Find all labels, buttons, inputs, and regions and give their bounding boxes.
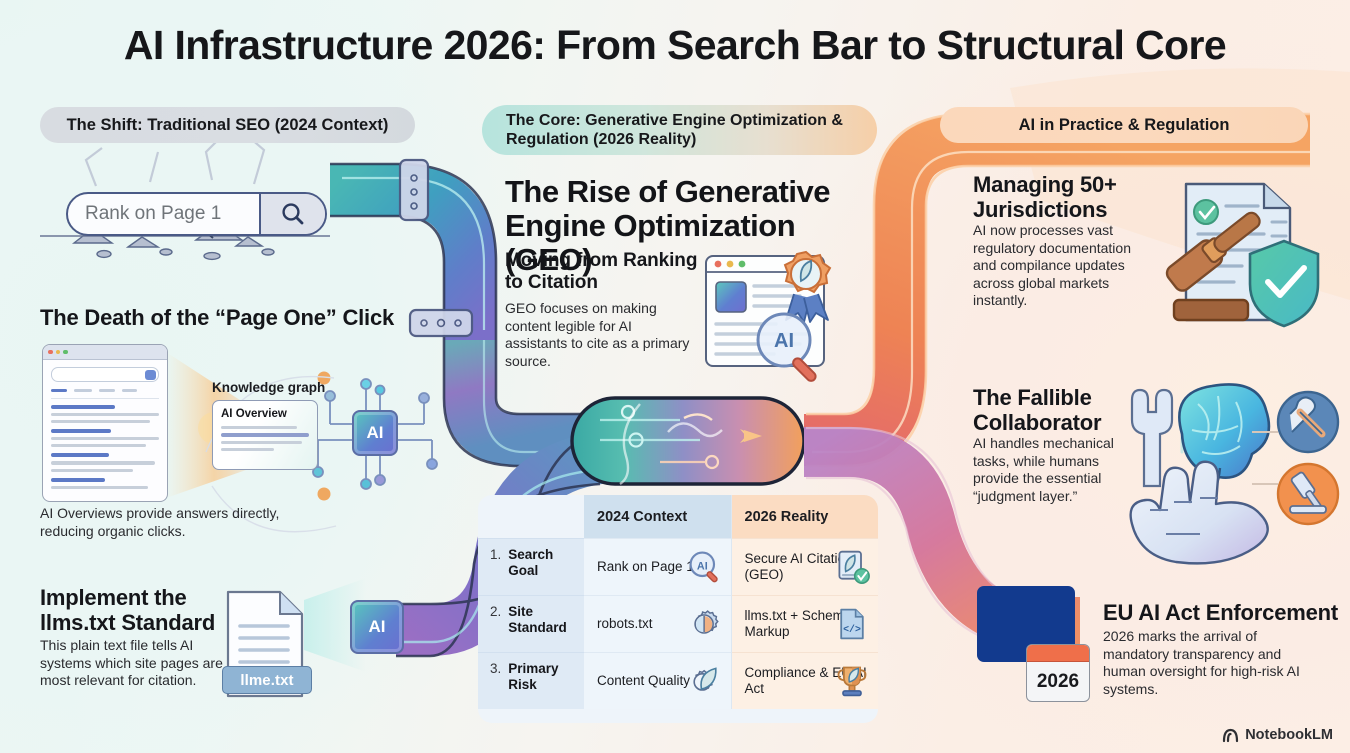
llms-file-label: llme.txt <box>222 666 312 694</box>
table-header-2026: 2026 Reality <box>732 495 879 538</box>
serp-result-item <box>51 429 159 447</box>
right-body-fallible-collaborator: AI handles mechanical tasks, while human… <box>973 435 1138 505</box>
cell-2024-text: Content Quality <box>597 673 690 689</box>
ai-magnifier-icon: AI <box>687 549 723 585</box>
serp-result-item <box>51 478 159 489</box>
core-capsule <box>572 398 804 484</box>
magnifier-glyph <box>280 201 306 227</box>
table-header-2024: 2024 Context <box>584 495 732 538</box>
search-input-value: Rank on Page 1 <box>68 203 259 225</box>
calendar-icon: 2026 <box>1026 644 1090 702</box>
row-number: 2. <box>490 604 501 620</box>
row-label-cell: 2. Site Standard <box>478 595 584 652</box>
browser-chrome-bar <box>43 345 167 360</box>
window-minimize-dot <box>56 350 61 355</box>
window-close-dot <box>48 350 53 355</box>
search-icon[interactable] <box>259 194 325 234</box>
notebooklm-logo-icon <box>1222 728 1239 743</box>
left-heading-llms-standard: Implement the llms.txt Standard <box>40 585 240 635</box>
right-heading-eu-ai-act: EU AI Act Enforcement <box>1103 600 1348 625</box>
ai-overview-card: AI Overview <box>212 400 318 470</box>
code-file-icon: </> <box>834 606 870 642</box>
cell-2024: Rank on Page 1 AI <box>584 538 732 595</box>
knowledge-graph-label: Knowledge graph <box>212 380 325 395</box>
section-pill-the-shift: The Shift: Traditional SEO (2024 Context… <box>40 107 415 143</box>
ai-overview-title: AI Overview <box>221 408 309 420</box>
row-label: Primary Risk <box>508 661 584 693</box>
left-caption-llms-standard: This plain text file tells AI systems wh… <box>40 637 225 690</box>
brain-robot-hand-icon <box>1131 384 1338 563</box>
serp-window-illustration <box>42 344 168 502</box>
right-body-eu-ai-act: 2026 marks the arrival of mandatory tran… <box>1103 628 1325 698</box>
table-header-blank <box>478 495 584 538</box>
center-subheading-ranking-to-citation: Moving from Ranking to Citation <box>505 250 705 294</box>
window-maximize-dot <box>63 350 68 355</box>
left-heading-page-one-click: The Death of the “Page One” Click <box>40 305 430 330</box>
section-pill-the-core: The Core: Generative Engine Optimization… <box>482 105 877 155</box>
serp-result-item <box>51 405 159 423</box>
page-title: AI Infrastructure 2026: From Search Bar … <box>0 22 1350 69</box>
right-heading-fallible-collaborator: The Fallible Collaborator <box>973 385 1143 435</box>
calendar-year: 2026 <box>1027 662 1089 701</box>
cell-2024: robots.txt <box>584 595 732 652</box>
quill-document-check-icon <box>834 549 870 585</box>
cell-2026: Secure AI Citations (GEO) <box>732 538 879 595</box>
row-label-cell: 3. Primary Risk <box>478 652 584 709</box>
svg-text:AI: AI <box>696 561 707 573</box>
serp-result-item <box>51 453 159 471</box>
row-label: Search Goal <box>508 547 584 579</box>
watermark-label: NotebookLM <box>1245 727 1333 743</box>
right-heading-jurisdictions: Managing 50+ Jurisdictions <box>973 172 1143 222</box>
right-body-jurisdictions: AI now processes vast regulatory documen… <box>973 222 1158 310</box>
ai-chip-icon: AI <box>352 410 398 456</box>
search-bar-illustration[interactable]: Rank on Page 1 <box>66 192 327 236</box>
left-caption-ai-overviews: AI Overviews provide answers directly, r… <box>40 505 300 540</box>
center-body-geo: GEO focuses on making content legible fo… <box>505 300 690 370</box>
cell-2024-text: robots.txt <box>597 616 653 632</box>
trophy-icon <box>834 663 870 699</box>
serp-search-icon <box>145 370 156 380</box>
table-header-row: 2024 Context 2026 Reality <box>478 495 878 538</box>
cell-2026: Compliance & EU AI Act <box>732 652 879 709</box>
serp-tabs <box>51 389 159 392</box>
serp-body <box>43 360 167 489</box>
calendar-header <box>1027 645 1089 662</box>
cell-2026: llms.txt + Schema Markup </> <box>732 595 879 652</box>
gear-brain-icon <box>687 606 723 642</box>
table-row: 3. Primary Risk Content Quality Complian… <box>478 652 878 709</box>
cell-2024: Content Quality <box>584 652 732 709</box>
svg-text:AI: AI <box>774 330 794 352</box>
cell-2024-text: Rank on Page 1 <box>597 559 694 575</box>
section-pill-ai-in-practice: AI in Practice & Regulation <box>940 107 1308 143</box>
row-label-cell: 1. Search Goal <box>478 538 584 595</box>
svg-text:</>: </> <box>843 624 861 635</box>
serp-search-field <box>51 367 159 382</box>
row-number: 1. <box>490 547 501 563</box>
gear-quill-icon <box>687 663 723 699</box>
row-label: Site Standard <box>508 604 584 636</box>
comparison-table: 2024 Context 2026 Reality 1. Search Goal… <box>478 495 878 723</box>
table-row: 2. Site Standard robots.txt llms.txt + S… <box>478 595 878 652</box>
row-number: 3. <box>490 661 501 677</box>
table-row: 1. Search Goal Rank on Page 1 AI Secure … <box>478 538 878 595</box>
notebooklm-watermark: NotebookLM <box>1222 727 1333 743</box>
infographic-canvas: AI AI Infrastructure 2026: From Search B… <box>0 0 1350 753</box>
ai-chip-icon: AI <box>350 600 404 654</box>
